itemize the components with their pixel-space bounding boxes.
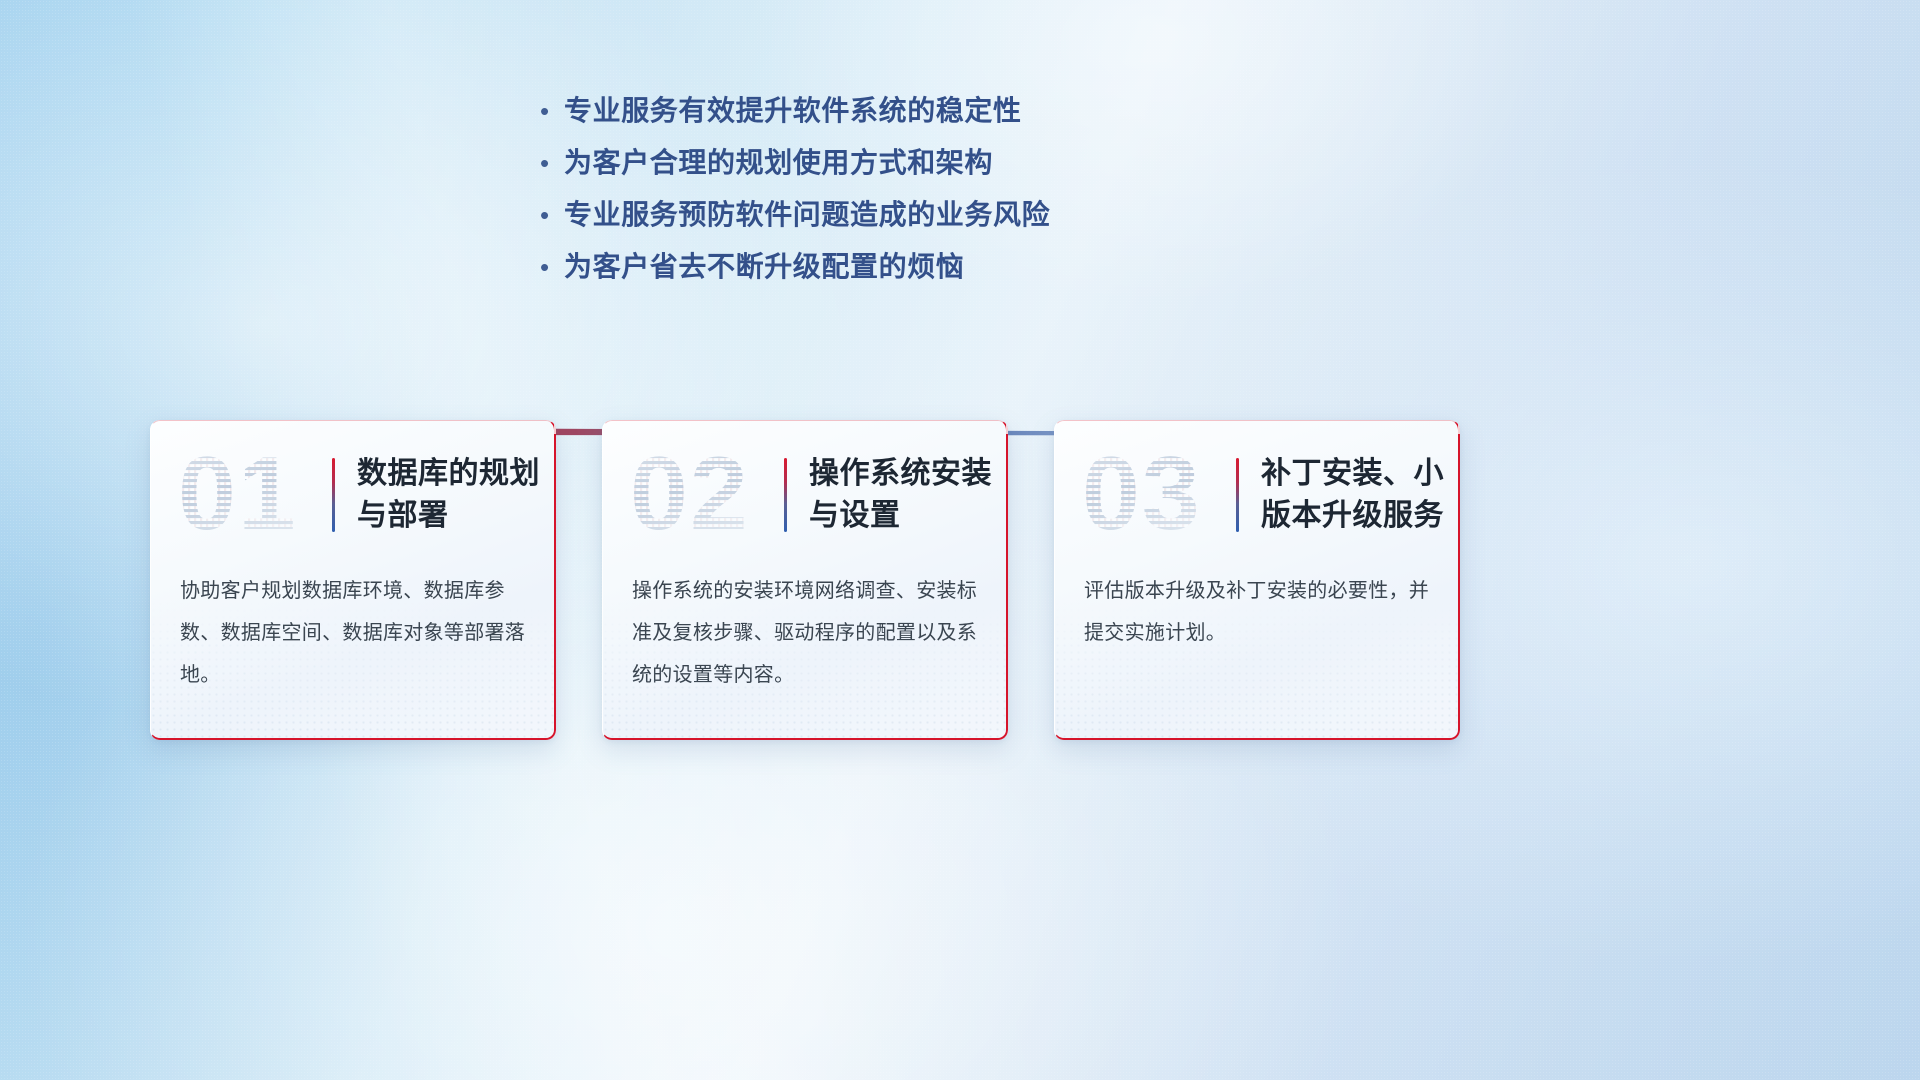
bullet-dot-icon: • <box>530 242 564 292</box>
card-title-line-2: 版本升级服务 <box>1261 495 1444 537</box>
card-body-text: 协助客户规划数据库环境、数据库参数、数据库空间、数据库对象等部署落地。 <box>150 570 556 696</box>
striped-number-glyph-icon: 02 <box>628 443 778 547</box>
bullet-dot-icon: • <box>530 190 564 240</box>
service-card-01[interactable]: 01 数据库的规划 与部署 协助客户规划数据库环境、数据库参数、数据库空间、数据… <box>150 420 556 740</box>
number-watermark-icon: 01 <box>176 443 326 547</box>
bullet-text: 为客户合理的规划使用方式和架构 <box>564 138 993 188</box>
service-card-02[interactable]: 02 操作系统安装 与设置 操作系统的安装环境网络调查、安装标准及复核步骤、驱动… <box>602 420 1008 740</box>
list-item: • 专业服务有效提升软件系统的稳定性 <box>530 86 1330 138</box>
card-title-line-1: 操作系统安装 <box>809 453 992 495</box>
bullet-text: 专业服务预防软件问题造成的业务风险 <box>564 190 1050 240</box>
card-title-line-1: 数据库的规划 <box>357 453 540 495</box>
card-title-line-1: 补丁安装、小 <box>1261 453 1444 495</box>
svg-text:01: 01 <box>178 443 298 547</box>
bullet-text: 为客户省去不断升级配置的烦恼 <box>564 242 964 292</box>
number-watermark-icon: 02 <box>628 443 778 547</box>
striped-number-glyph-icon: 03 <box>1080 443 1230 547</box>
card-title-line-2: 与设置 <box>809 495 992 537</box>
svg-text:02: 02 <box>630 443 750 547</box>
card-header: 03 补丁安装、小 版本升级服务 <box>1054 420 1460 570</box>
card-body-text: 操作系统的安装环境网络调查、安装标准及复核步骤、驱动程序的配置以及系统的设置等内… <box>602 570 1008 696</box>
card-title: 操作系统安装 与设置 <box>809 453 992 537</box>
list-item: • 为客户省去不断升级配置的烦恼 <box>530 242 1330 294</box>
card-header: 01 数据库的规划 与部署 <box>150 420 556 570</box>
bullet-dot-icon: • <box>530 138 564 188</box>
list-item: • 专业服务预防软件问题造成的业务风险 <box>530 190 1330 242</box>
list-item: • 为客户合理的规划使用方式和架构 <box>530 138 1330 190</box>
svg-text:03: 03 <box>1082 443 1202 547</box>
service-card-03[interactable]: 03 补丁安装、小 版本升级服务 评估版本升级及补丁安装的必要性，并提交实施计划… <box>1054 420 1460 740</box>
title-accent-bar <box>784 458 787 532</box>
card-title: 补丁安装、小 版本升级服务 <box>1261 453 1444 537</box>
title-accent-bar <box>332 458 335 532</box>
card-row: 01 数据库的规划 与部署 协助客户规划数据库环境、数据库参数、数据库空间、数据… <box>150 420 1460 750</box>
bullet-text: 专业服务有效提升软件系统的稳定性 <box>564 86 1022 136</box>
title-accent-bar <box>1236 458 1239 532</box>
bullet-list: • 专业服务有效提升软件系统的稳定性 • 为客户合理的规划使用方式和架构 • 专… <box>530 86 1330 294</box>
card-header: 02 操作系统安装 与设置 <box>602 420 1008 570</box>
card-body-text: 评估版本升级及补丁安装的必要性，并提交实施计划。 <box>1054 570 1460 654</box>
card-title: 数据库的规划 与部署 <box>357 453 540 537</box>
card-title-line-2: 与部署 <box>357 495 540 537</box>
bullet-dot-icon: • <box>530 86 564 136</box>
striped-number-glyph-icon: 01 <box>176 443 326 547</box>
number-watermark-icon: 03 <box>1080 443 1230 547</box>
